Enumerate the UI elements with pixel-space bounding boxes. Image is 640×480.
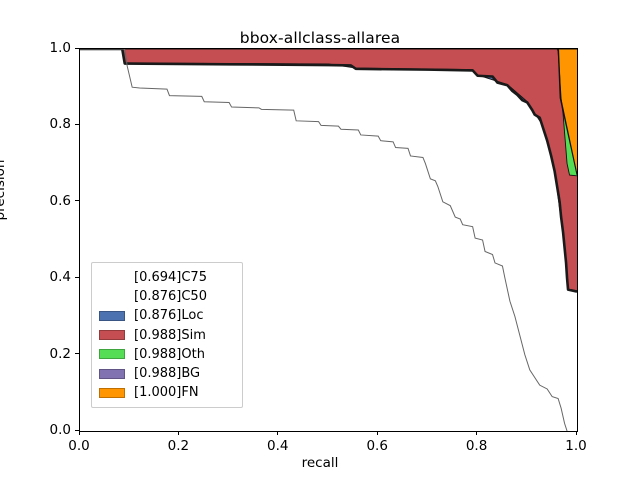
x-tick-mark: [476, 431, 477, 435]
legend-label-fn: [1.000]FN: [134, 386, 199, 399]
legend-swatch-oth: [99, 349, 125, 359]
x-axis-label: recall: [0, 455, 640, 471]
legend-label-bg: [0.988]BG: [134, 367, 200, 380]
legend-item-c75[interactable]: [0.694]C75: [99, 268, 234, 287]
area-band-loc: [80, 49, 577, 292]
y-tick-label: 0.8: [25, 116, 71, 132]
legend-item-oth[interactable]: [0.988]Oth: [99, 345, 234, 364]
y-tick-mark: [75, 353, 79, 354]
x-tick-label: 0.2: [148, 438, 208, 454]
legend-item-fn[interactable]: [1.000]FN: [99, 383, 234, 402]
legend-item-c50[interactable]: [0.876]C50: [99, 287, 234, 306]
x-tick-mark: [79, 431, 80, 435]
y-tick-label: 0.2: [25, 346, 71, 362]
x-tick-label: 0.4: [248, 438, 308, 454]
chart-legend[interactable]: [0.694]C75[0.876]C50[0.876]Loc[0.988]Sim…: [91, 262, 243, 408]
y-tick-label: 0.0: [25, 422, 71, 438]
legend-label-sim: [0.988]Sim: [134, 329, 206, 342]
figure-canvas: bbox-allclass-allarea precision recall 0…: [0, 0, 640, 480]
x-tick-label: 1.0: [546, 438, 606, 454]
legend-label-c50: [0.876]C50: [134, 290, 207, 303]
y-tick-mark: [75, 124, 79, 125]
y-tick-mark: [75, 277, 79, 278]
legend-swatch-sim: [99, 330, 125, 340]
legend-label-c75: [0.694]C75: [134, 271, 207, 284]
x-tick-mark: [377, 431, 378, 435]
chart-title: bbox-allclass-allarea: [0, 29, 640, 47]
legend-swatch-c75: [99, 273, 125, 283]
x-tick-mark: [576, 431, 577, 435]
legend-swatch-loc: [99, 311, 125, 321]
curve-c50: [80, 49, 577, 292]
legend-item-bg[interactable]: [0.988]BG: [99, 364, 234, 383]
y-axis-label: precision: [0, 160, 8, 221]
y-tick-mark: [75, 48, 79, 49]
legend-item-loc[interactable]: [0.876]Loc: [99, 306, 234, 325]
legend-item-sim[interactable]: [0.988]Sim: [99, 326, 234, 345]
x-tick-label: 0.6: [347, 438, 407, 454]
x-tick-label: 0.0: [49, 438, 109, 454]
legend-swatch-bg: [99, 369, 125, 379]
y-tick-mark: [75, 200, 79, 201]
y-tick-label: 1.0: [25, 40, 71, 56]
legend-swatch-fn: [99, 388, 125, 398]
legend-swatch-c50: [99, 292, 125, 302]
x-tick-label: 0.8: [447, 438, 507, 454]
y-tick-label: 0.6: [25, 193, 71, 209]
x-tick-mark: [178, 431, 179, 435]
legend-label-loc: [0.876]Loc: [134, 309, 203, 322]
x-tick-mark: [277, 431, 278, 435]
legend-label-oth: [0.988]Oth: [134, 348, 205, 361]
y-tick-label: 0.4: [25, 269, 71, 285]
